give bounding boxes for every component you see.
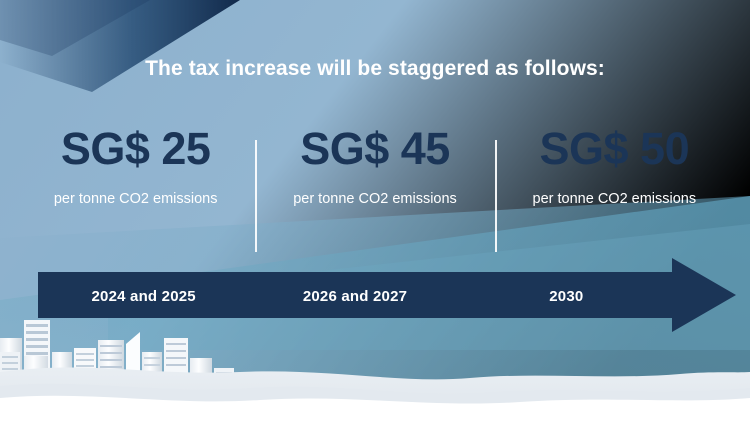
timeline-period-1: 2024 and 2025 xyxy=(38,288,249,305)
tier-column-3: SG$ 50 per tonne CO2 emissions xyxy=(495,122,734,252)
page-title: The tax increase will be staggered as fo… xyxy=(0,57,750,81)
tier-amount: SG$ 25 xyxy=(16,126,255,171)
tier-column-1: SG$ 25 per tonne CO2 emissions xyxy=(16,122,255,252)
tier-columns: SG$ 25 per tonne CO2 emissions SG$ 45 pe… xyxy=(16,122,734,252)
carbon-tax-infographic: The tax increase will be staggered as fo… xyxy=(0,0,750,430)
tier-unit: per tonne CO2 emissions xyxy=(255,190,494,209)
tier-unit: per tonne CO2 emissions xyxy=(16,190,255,209)
tier-unit: per tonne CO2 emissions xyxy=(495,190,734,209)
timeline-arrow: 2024 and 2025 2026 and 2027 2030 xyxy=(0,252,750,338)
tier-amount: SG$ 45 xyxy=(255,126,494,171)
timeline-period-2: 2026 and 2027 xyxy=(249,288,460,305)
tier-amount: SG$ 50 xyxy=(495,126,734,171)
timeline-period-3: 2030 xyxy=(461,288,672,305)
timeline-period-labels: 2024 and 2025 2026 and 2027 2030 xyxy=(38,252,672,338)
tier-column-2: SG$ 45 per tonne CO2 emissions xyxy=(255,122,494,252)
